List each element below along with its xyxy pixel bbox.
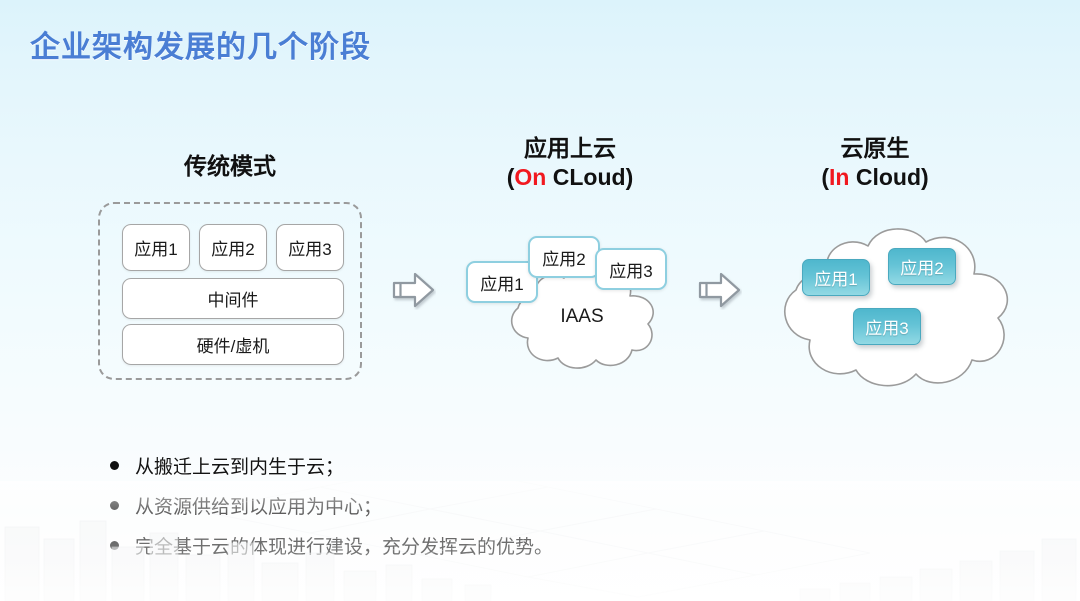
column-heading-in-cloud: 云原生 (In Cloud) (745, 134, 1005, 193)
bullet-list: 从搬迁上云到内生于云； 从资源供给到以应用为中心； 完全基于云的体现进行建设，充… (110, 452, 553, 572)
bullet-list-item: 从资源供给到以应用为中心； (110, 492, 553, 519)
bullet-text: 从搬迁上云到内生于云； (135, 452, 344, 479)
in-cloud-rest-word: Cloud (849, 164, 921, 190)
in-cloud-highlight-word: In (829, 164, 849, 190)
on-cloud-app-box-2[interactable]: 应用2 (528, 236, 600, 278)
right-arrow-icon (392, 270, 436, 315)
column-heading-on-cloud-zh: 应用上云 (440, 134, 700, 163)
in-cloud-paren-close: ) (921, 164, 929, 190)
traditional-stack-container: 应用1 应用2 应用3 中间件 硬件/虚机 (98, 202, 362, 380)
on-cloud-app-box-3[interactable]: 应用3 (595, 248, 667, 290)
cloud-native-app-tile-2[interactable]: 应用2 (888, 248, 956, 285)
bullet-dot-icon (110, 541, 119, 550)
right-arrow-icon (698, 270, 742, 315)
traditional-app-box-3[interactable]: 应用3 (276, 224, 344, 271)
column-heading-in-cloud-en: (In Cloud) (745, 163, 1005, 193)
bullet-dot-icon (110, 461, 119, 470)
column-heading-traditional-zh: 传统模式 (95, 152, 365, 181)
column-heading-in-cloud-zh: 云原生 (745, 134, 1005, 163)
traditional-app-box-2[interactable]: 应用2 (199, 224, 267, 271)
cloud-native-app-tile-1[interactable]: 应用1 (802, 259, 870, 296)
bullet-list-item: 从搬迁上云到内生于云； (110, 452, 553, 479)
on-cloud-rest-word: CLoud (546, 164, 625, 190)
traditional-hardware-box[interactable]: 硬件/虚机 (122, 324, 344, 365)
traditional-app-box-1[interactable]: 应用1 (122, 224, 190, 271)
in-cloud-paren-open: ( (821, 164, 829, 190)
slide-canvas: 企业架构发展的几个阶段 传统模式 应用1 应用2 应用3 中间件 硬件/虚机 (0, 0, 1080, 601)
column-heading-traditional: 传统模式 (95, 152, 365, 181)
bullet-text: 从资源供给到以应用为中心； (135, 492, 382, 519)
traditional-hardware-row: 硬件/虚机 (122, 324, 344, 365)
bullet-dot-icon (110, 501, 119, 510)
bullet-text: 完全基于云的体现进行建设，充分发挥云的优势。 (135, 532, 553, 559)
bullet-list-item: 完全基于云的体现进行建设，充分发挥云的优势。 (110, 532, 553, 559)
traditional-app-row: 应用1 应用2 应用3 (122, 224, 344, 271)
cloud-native-app-tile-3[interactable]: 应用3 (853, 308, 921, 345)
traditional-middleware-row: 中间件 (122, 278, 344, 319)
on-cloud-paren-close: ) (626, 164, 634, 190)
page-title: 企业架构发展的几个阶段 (30, 22, 371, 66)
traditional-middleware-box[interactable]: 中间件 (122, 278, 344, 319)
column-heading-on-cloud: 应用上云 (On CLoud) (440, 134, 700, 193)
on-cloud-highlight-word: On (514, 164, 546, 190)
column-heading-on-cloud-en: (On CLoud) (440, 163, 700, 193)
